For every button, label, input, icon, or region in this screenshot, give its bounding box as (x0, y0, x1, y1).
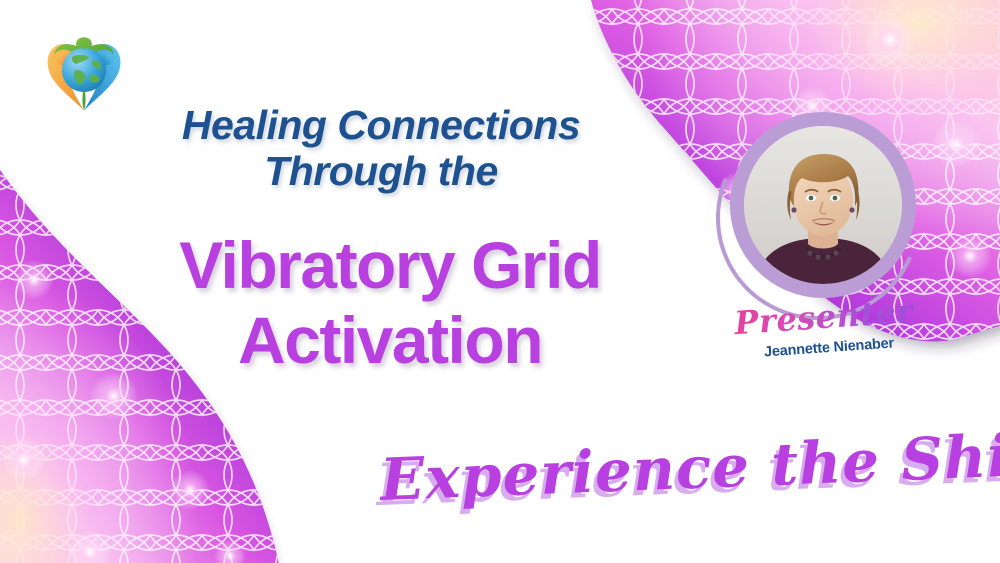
headline-line-2: Through the (96, 149, 666, 195)
main-title-line-2: Activation (80, 303, 700, 378)
headline-line-1: Healing Connections (96, 103, 666, 149)
tagline: Experience the Shift (379, 426, 901, 514)
presenter-block: Presenter Jeannette Nienaber (714, 108, 934, 378)
main-title-line-1: Vibratory Grid (80, 228, 700, 303)
headline: Healing Connections Through the (96, 103, 666, 195)
presentation-slide: Healing Connections Through the Vibrator… (0, 0, 1000, 563)
main-title: Vibratory Grid Activation (80, 228, 700, 378)
presenter-photo (744, 126, 902, 284)
avatar (744, 126, 902, 284)
